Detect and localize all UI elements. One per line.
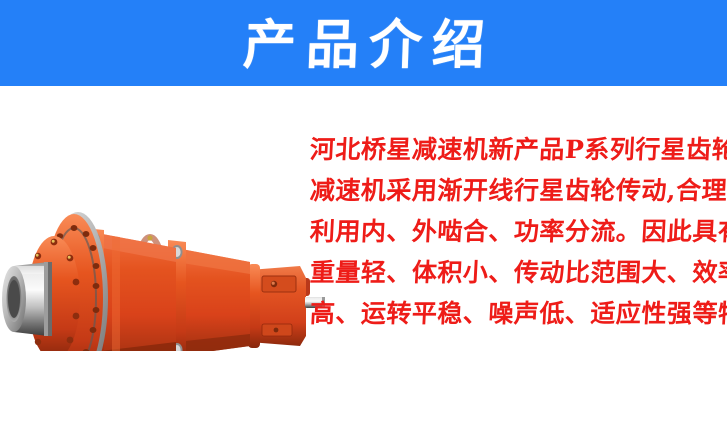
description-line: 利用内、外啮合、功率分流。因此具有 — [309, 211, 701, 252]
description-line: 重量轻、体积小、传动比范围大、效率 — [309, 252, 701, 293]
input-housing — [248, 264, 310, 348]
description-line: 减速机采用渐开线行星齿轮传动,合理 — [309, 170, 701, 211]
header-banner: 产品介绍 — [0, 0, 727, 86]
description-line: 高、运转平稳、噪声低、适应性强等特点。 — [309, 293, 701, 334]
page-title: 产品介绍 — [232, 19, 496, 72]
product-introduction-page: 产品介绍 — [0, 0, 727, 427]
content-area: 河北桥星减速机新产品P系列行星齿轮 减速机采用渐开线行星齿轮传动,合理 利用内、… — [0, 86, 727, 427]
product-photo — [0, 166, 330, 351]
description-block: 河北桥星减速机新产品P系列行星齿轮 减速机采用渐开线行星齿轮传动,合理 利用内、… — [310, 129, 700, 334]
output-hollow-shaft — [2, 262, 52, 336]
description-line: 河北桥星减速机新产品P系列行星齿轮 — [309, 129, 701, 170]
planetary-gear-reducer-illustration — [0, 166, 330, 351]
rear-barrel — [176, 248, 250, 351]
